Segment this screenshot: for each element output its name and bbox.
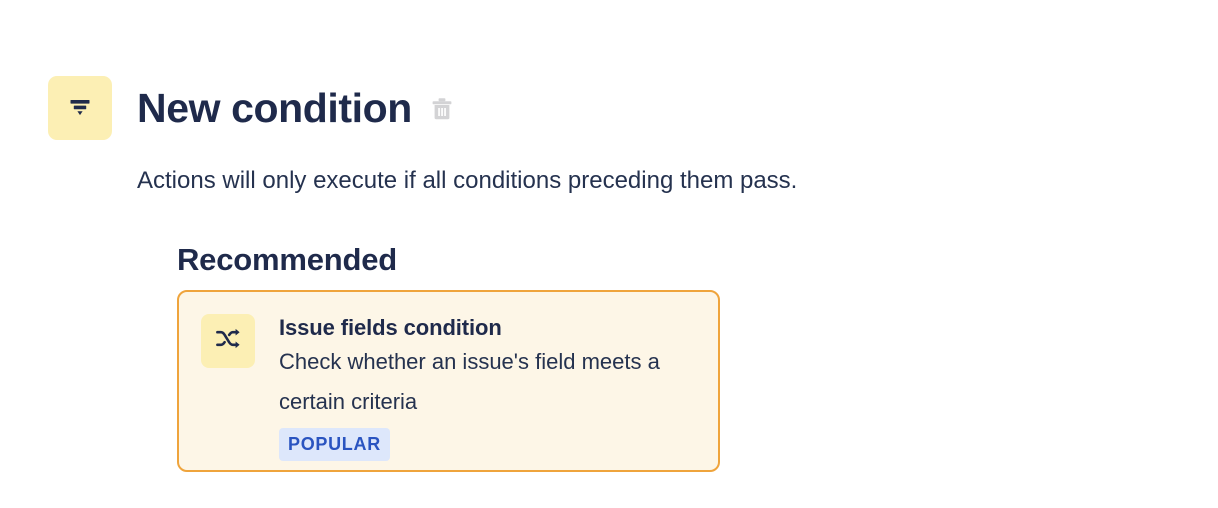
condition-type-tile	[48, 76, 112, 140]
condition-icon-tile	[201, 314, 255, 368]
condition-card-body: Issue fields condition Check whether an …	[279, 313, 679, 461]
condition-card-title: Issue fields condition	[279, 314, 679, 342]
recommended-condition-card[interactable]: Issue fields condition Check whether an …	[177, 290, 720, 472]
page-header: New condition	[48, 76, 456, 140]
shuffle-icon	[213, 324, 243, 359]
recommended-heading: Recommended	[177, 240, 397, 280]
trash-icon	[430, 96, 454, 125]
condition-builder-page: New condition Actions will only execute …	[0, 0, 1218, 508]
page-subtitle: Actions will only execute if all conditi…	[137, 165, 797, 197]
popular-badge: POPULAR	[279, 428, 390, 461]
filter-icon	[64, 90, 96, 127]
page-header-text: New condition	[137, 76, 456, 140]
condition-card-description: Check whether an issue's field meets a c…	[279, 342, 679, 422]
page-title: New condition	[137, 84, 412, 132]
delete-condition-button[interactable]	[428, 95, 456, 125]
condition-card-badge-row: POPULAR	[279, 428, 679, 461]
